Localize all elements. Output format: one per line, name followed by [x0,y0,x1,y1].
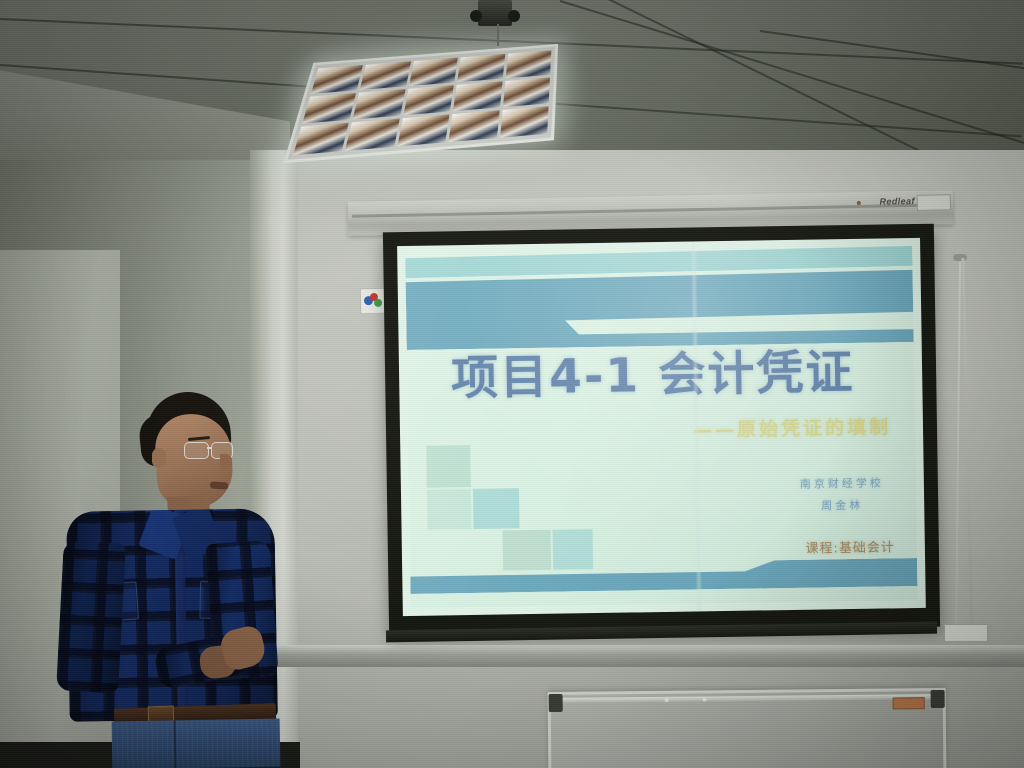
slide-presenter-name: 周金林 [800,497,884,514]
slide-decor-square [503,530,552,571]
slide-decor-square [473,488,520,529]
brand-dot-icon [857,201,861,205]
slide-decor-square [553,529,594,570]
person-arm-left [56,540,126,693]
whiteboard-corner-cap [549,694,563,712]
projector-lens-icon [470,10,482,22]
ceiling-grid-line [760,30,1024,74]
slide-organization: 南京财经学校 [800,475,884,492]
whiteboard [548,688,947,768]
slide-course-label: 课程:基础会计 [805,536,895,556]
person-mouth [210,481,228,489]
eyeglass-lens-left [184,442,209,459]
whiteboard-pen-rail [553,694,939,703]
projector-mount-arm [497,24,499,46]
whiteboard-corner-cap [931,690,945,708]
slide-decor-square [426,445,471,488]
wall-plate [944,624,988,642]
logo-circle-green-icon [374,299,382,307]
casing-groove [352,203,949,217]
whiteboard-rail-fastener [665,698,669,702]
denim-texture [112,719,281,768]
screen-brand-label: Redleaf [879,196,914,207]
person-jeans [112,719,281,768]
photo-scene: Redleaf 项目4-1 会计凭证 ——原始凭证的填制 [0,0,1024,768]
slide-decor-square [427,489,472,530]
slide-subtitle: ——原始凭证的填制 [693,412,891,442]
screen-cord-knob [953,254,967,261]
whiteboard-rail-fastener [703,697,707,701]
projector-lens-icon [508,10,520,22]
person-ear [152,448,166,468]
casing-plate [917,194,951,211]
projection-screen-surface: 项目4-1 会计凭证 ——原始凭证的填制 南京财经学校 周金林 课程:基础会计 [397,238,926,616]
presentation-slide: 项目4-1 会计凭证 ——原始凭证的填制 南京财经学校 周金林 课程:基础会计 [405,246,917,608]
slide-footer-band [410,558,917,594]
slide-title: 项目4-1 会计凭证 [451,349,882,403]
presenter-person [60,392,290,768]
slide-credits: 南京财经学校 周金林 [800,475,885,514]
arm-shading [56,540,126,693]
projection-screen: 项目4-1 会计凭证 ——原始凭证的填制 南京财经学校 周金林 课程:基础会计 [383,224,940,636]
person-nose [220,454,232,470]
wall-ledge [270,645,1024,667]
whiteboard-brand-label [893,697,925,709]
light-louver-grid [293,50,551,155]
projector-icon [478,0,512,26]
